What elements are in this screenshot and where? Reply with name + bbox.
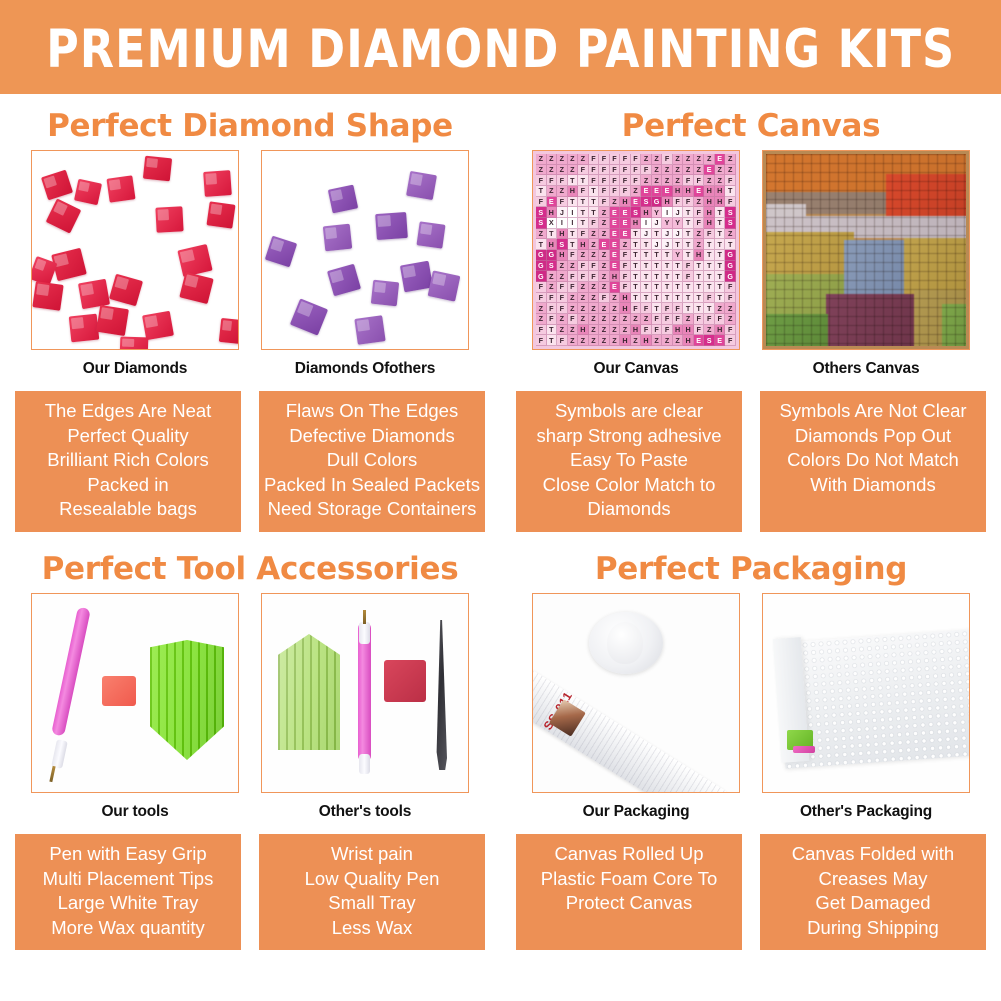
blurb-line: Resealable bags	[19, 497, 237, 522]
canvas-blur-overlay	[766, 154, 966, 346]
section-title: Perfect Canvas	[501, 94, 1001, 150]
compare-cell-others: Diamonds Ofothers	[261, 150, 469, 378]
bubble-mailer-folded-canvas-photo	[762, 593, 970, 793]
blurb-others: Canvas Folded with Creases May Get Damag…	[760, 834, 986, 950]
blurb-line: During Shipping	[764, 916, 982, 941]
compare-cell-ours: SS-011 Our Packaging	[532, 593, 740, 821]
section-canvas: Perfect Canvas ZZZZZFFFFFZZFZZZZEZZZZZFF…	[501, 94, 1001, 532]
tray-ribs	[278, 634, 340, 750]
tube-nozzle-icon	[607, 622, 643, 664]
blurb-line: Creases May	[764, 867, 982, 892]
drill-pen-icon	[51, 607, 91, 737]
canvas-tube: SS-011	[532, 668, 729, 793]
blurb-line: Close Color Match to	[520, 473, 738, 498]
pen-end-cap-icon	[359, 754, 370, 774]
blurb-line: Plastic Foam Core To	[520, 867, 738, 892]
blurry-canvas-art	[766, 154, 966, 346]
section-diamond-shape: Perfect Diamond Shape	[0, 94, 500, 532]
pen-needle-icon	[49, 766, 55, 782]
compare-cell-ours: ZZZZZFFFFFZZFZZZZEZZZZZFFFFFFFZZZZZEZZFF…	[532, 150, 740, 378]
page-title: PREMIUM DIAMOND PAINTING KITS	[46, 19, 955, 76]
header-banner: PREMIUM DIAMOND PAINTING KITS	[0, 0, 1001, 94]
section-packaging: Perfect Packaging SS-011 Our Packaging	[501, 537, 1001, 950]
red-square-diamonds-photo	[31, 150, 239, 350]
blurb-line: Brilliant Rich Colors	[19, 448, 237, 473]
blurb-line: Pen with Easy Grip	[19, 842, 237, 867]
pink-symbol-chart-canvas-photo: ZZZZZFFFFFZZFZZZZEZZZZZFFFFFFFZZZZZEZZFF…	[532, 150, 740, 350]
blurb-line: Small Tray	[263, 891, 481, 916]
blurb-ours: Pen with Easy Grip Multi Placement Tips …	[15, 834, 241, 950]
rolled-canvas-tube-photo: SS-011	[532, 593, 740, 793]
blurb-ours: Canvas Rolled Up Plastic Foam Core To Pr…	[516, 834, 742, 950]
infographic-page: PREMIUM DIAMOND PAINTING KITS Perfect Di…	[0, 0, 1001, 1001]
blurb-line: Packed In Sealed Packets	[263, 473, 481, 498]
pink-pen-wax-green-tray-photo	[31, 593, 239, 793]
blurb-line: Perfect Quality	[19, 424, 237, 449]
blurb-line: Multi Placement Tips	[19, 867, 237, 892]
photo-caption: Our Diamonds	[31, 350, 239, 378]
blurb-line: sharp Strong adhesive	[520, 424, 738, 449]
photo-caption: Our Canvas	[532, 350, 740, 378]
blurb-line: Symbols are clear	[520, 399, 738, 424]
tweezers-icon	[434, 620, 447, 770]
blurb-line: More Wax quantity	[19, 916, 237, 941]
peek-pink-pen	[793, 746, 815, 753]
section-title: Perfect Diamond Shape	[0, 94, 500, 150]
blurb-line: Easy To Paste	[520, 448, 738, 473]
section-title: Perfect Packaging	[501, 537, 1001, 593]
tray-ribs	[150, 640, 224, 760]
compare-cell-ours: Our Diamonds	[31, 150, 239, 378]
blurb-line: Defective Diamonds	[263, 424, 481, 449]
blurry-color-canvas-photo	[762, 150, 970, 350]
photo-caption: Others Canvas	[762, 350, 970, 378]
blurb-line: Dull Colors	[263, 448, 481, 473]
compare-cell-others: Other's Packaging	[762, 593, 970, 821]
blurb-others: Symbols Are Not Clear Diamonds Pop Out C…	[760, 391, 986, 532]
blurb-line: Diamonds Pop Out	[764, 424, 982, 449]
symbol-grid: ZZZZZFFFFFZZFZZZZEZZZZZFFFFFFFZZZZZEZZFF…	[536, 154, 736, 346]
pen-ferrule-icon	[51, 739, 68, 769]
wax-square	[384, 660, 426, 702]
photo-caption: Our tools	[31, 793, 239, 821]
pen-ferrule-icon	[359, 622, 370, 644]
blurb-line: Low Quality Pen	[263, 867, 481, 892]
small-tray-pen-wax-tweezers-photo	[261, 593, 469, 793]
blurb-line: Less Wax	[263, 916, 481, 941]
section-title: Perfect Tool Accessories	[0, 537, 500, 593]
blurb-others: Flaws On The Edges Defective Diamonds Du…	[259, 391, 485, 532]
blurb-line: Large White Tray	[19, 891, 237, 916]
drill-tray	[150, 640, 224, 760]
compare-cell-ours: Our tools	[31, 593, 239, 821]
blurb-line: Get Damaged	[764, 891, 982, 916]
blurb-line: Colors Do Not Match	[764, 448, 982, 473]
photo-caption: Other's tools	[261, 793, 469, 821]
blurb-line: Protect Canvas	[520, 891, 738, 916]
wax-square	[102, 676, 136, 706]
blurb-line: Need Storage Containers	[263, 497, 481, 522]
blurb-line: Canvas Rolled Up	[520, 842, 738, 867]
blurb-others: Wrist pain Low Quality Pen Small Tray Le…	[259, 834, 485, 950]
blurb-line: Canvas Folded with	[764, 842, 982, 867]
purple-square-diamonds-photo	[261, 150, 469, 350]
drill-tray	[278, 634, 340, 750]
blurb-line: Packed in	[19, 473, 237, 498]
blurb-line: Flaws On The Edges	[263, 399, 481, 424]
blurb-line: Diamonds	[520, 497, 738, 522]
section-tool-accessories: Perfect Tool Accessories Our tools	[0, 537, 500, 950]
blurb-line: Wrist pain	[263, 842, 481, 867]
compare-cell-others: Others Canvas	[762, 150, 970, 378]
blurb-ours: The Edges Are Neat Perfect Quality Brill…	[15, 391, 241, 532]
photo-caption: Diamonds Ofothers	[261, 350, 469, 378]
blurb-line: The Edges Are Neat	[19, 399, 237, 424]
blurb-ours: Symbols are clear sharp Strong adhesive …	[516, 391, 742, 532]
pen-needle-icon	[363, 610, 366, 624]
compare-cell-others: Other's tools	[261, 593, 469, 821]
photo-caption: Other's Packaging	[762, 793, 970, 821]
blurb-line: With Diamonds	[764, 473, 982, 498]
blurb-line: Symbols Are Not Clear	[764, 399, 982, 424]
photo-caption: Our Packaging	[532, 793, 740, 821]
